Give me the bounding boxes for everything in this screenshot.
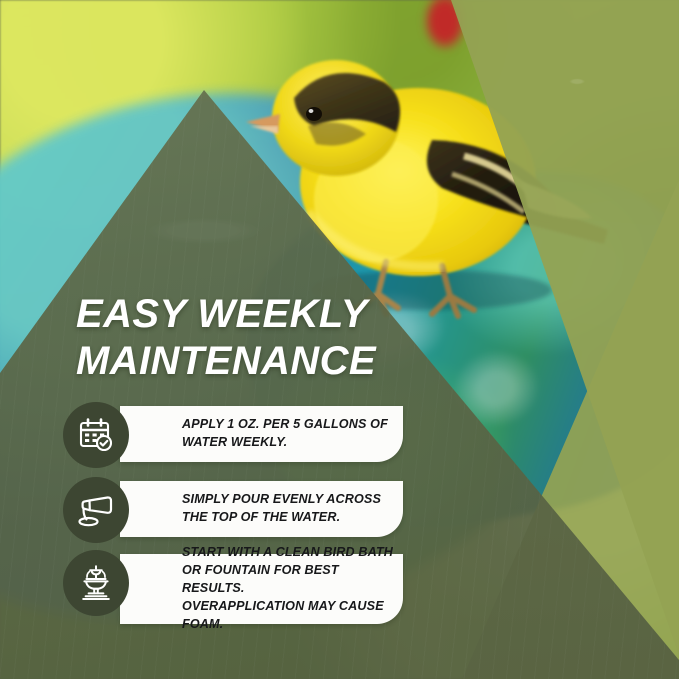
product-feature-image: EASY WEEKLY MAINTENANCE APPLY 1 OZ. PER … [0,0,679,679]
instruction-text: START WITH A CLEAN BIRD BATH OR FOUNTAIN… [182,544,403,633]
page-title: EASY WEEKLY MAINTENANCE [76,291,496,385]
instruction-card: APPLY 1 OZ. PER 5 GALLONS OF WATER WEEKL… [120,406,403,462]
calendar-check-icon [63,402,129,468]
pouring-bottle-icon [63,477,129,543]
fountain-icon [63,550,129,616]
instruction-text: APPLY 1 OZ. PER 5 GALLONS OF WATER WEEKL… [182,416,388,452]
instruction-text: SIMPLY POUR EVENLY ACROSS THE TOP OF THE… [182,491,381,527]
instruction-card: SIMPLY POUR EVENLY ACROSS THE TOP OF THE… [120,481,403,537]
instruction-card: START WITH A CLEAN BIRD BATH OR FOUNTAIN… [120,554,403,624]
